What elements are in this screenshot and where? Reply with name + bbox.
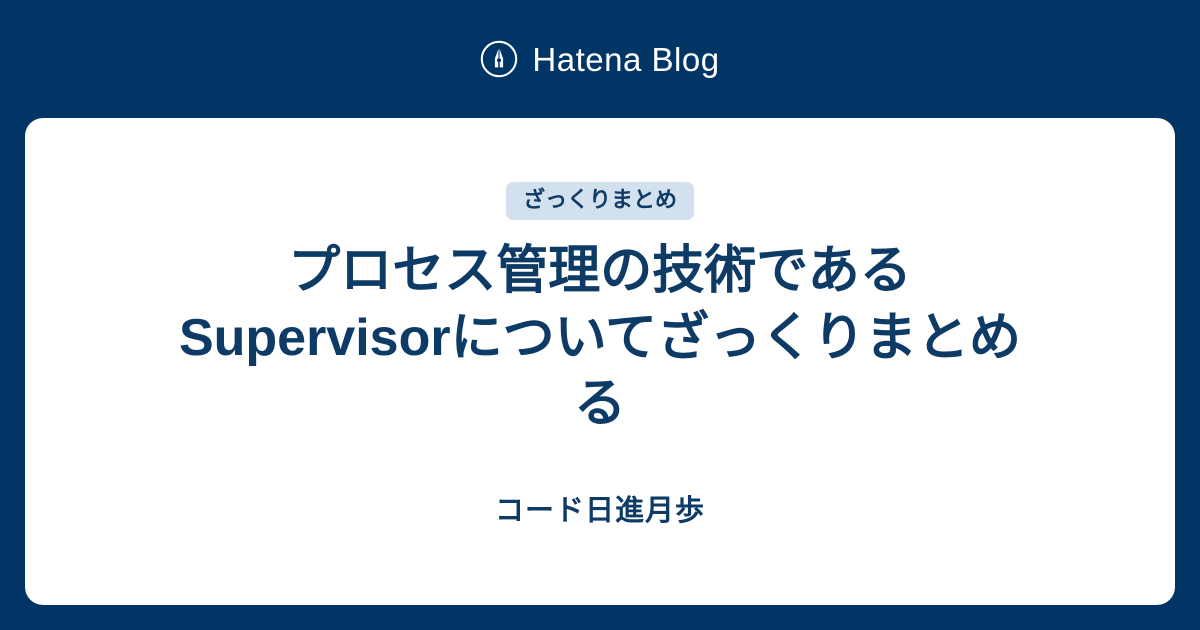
entry-card-content: ざっくりまとめ プロセス管理の技術であるSupervisorについてざっくりまと… (85, 118, 1115, 529)
entry-title: プロセス管理の技術であるSupervisorについてざっくりまとめる (170, 238, 1030, 438)
blog-name: コード日進月歩 (495, 494, 705, 529)
hatena-blog-brand: Hatena Blog (480, 0, 719, 118)
hatena-pen-nib-icon (480, 40, 518, 78)
category-tag[interactable]: ざっくりまとめ (506, 182, 694, 220)
ogp-card-canvas: Hatena Blog ざっくりまとめ プロセス管理の技術であるSupervis… (0, 0, 1200, 630)
hatena-blog-brand-name: Hatena Blog (532, 43, 719, 76)
entry-card: ざっくりまとめ プロセス管理の技術であるSupervisorについてざっくりまと… (25, 118, 1175, 605)
